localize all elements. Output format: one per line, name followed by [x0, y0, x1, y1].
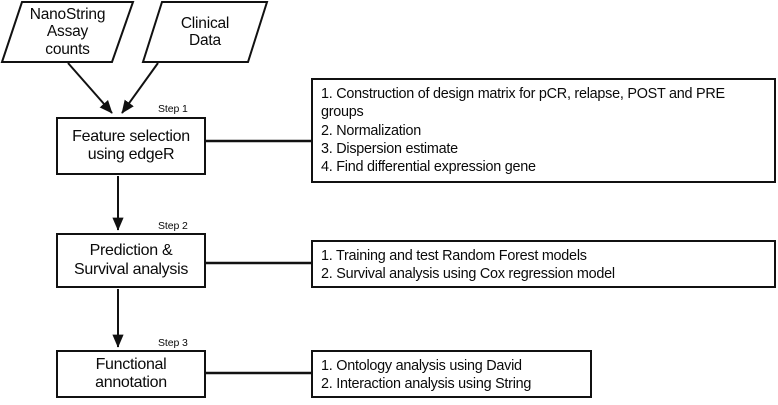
node-clinical-data: Clinical Data	[152, 4, 258, 60]
details-step-2-item-2: 2. Survival analysis using Cox regressio…	[321, 265, 767, 283]
details-step-1-item-3: 3. Dispersion estimate	[321, 140, 767, 158]
details-step-3-item-2: 2. Interaction analysis using String	[321, 375, 583, 393]
nanostring-label-line-3: counts	[45, 41, 89, 58]
arrow-clinical-data-to-feature-selection	[122, 63, 158, 113]
functional-annotation-label-line-1: Functional	[96, 356, 167, 374]
details-step-1-item-2: 2. Normalization	[321, 122, 767, 140]
flowchart-diagram: NanoString Assay counts Clinical Data St…	[0, 0, 778, 405]
clinical-data-label-line-2: Data	[189, 32, 221, 49]
details-step-1-item-1: 1. Construction of design matrix for pCR…	[321, 85, 767, 122]
details-step-2-item-1: 1. Training and test Random Forest model…	[321, 247, 767, 265]
node-functional-annotation: Functional annotation	[56, 350, 206, 398]
node-feature-selection: Feature selection using edgeR	[56, 117, 206, 175]
details-panel-step-3: 1. Ontology analysis using David 2. Inte…	[311, 350, 592, 398]
functional-annotation-label-line-2: annotation	[95, 374, 167, 392]
arrow-nanostring-to-feature-selection	[68, 63, 112, 113]
node-prediction-survival-analysis: Prediction & Survival analysis	[56, 233, 206, 288]
feature-selection-label-line-2: using edgeR	[88, 146, 175, 164]
feature-selection-label-line-1: Feature selection	[72, 128, 190, 146]
nanostring-label-line-2: Assay	[47, 23, 88, 40]
prediction-survival-label-line-2: Survival analysis	[74, 261, 188, 279]
prediction-survival-label-line-1: Prediction &	[90, 242, 173, 260]
step-label-1: Step 1	[158, 103, 188, 115]
details-step-3-item-1: 1. Ontology analysis using David	[321, 357, 583, 375]
node-nanostring-assay-counts: NanoString Assay counts	[12, 2, 123, 62]
clinical-data-label-line-1: Clinical	[181, 15, 229, 32]
step-label-2: Step 2	[158, 220, 188, 232]
step-label-3: Step 3	[158, 337, 188, 349]
details-panel-step-1: 1. Construction of design matrix for pCR…	[311, 78, 776, 183]
details-panel-step-2: 1. Training and test Random Forest model…	[311, 240, 776, 288]
nanostring-label-line-1: NanoString	[30, 6, 106, 23]
details-step-1-item-4: 4. Find differential expression gene	[321, 158, 767, 176]
